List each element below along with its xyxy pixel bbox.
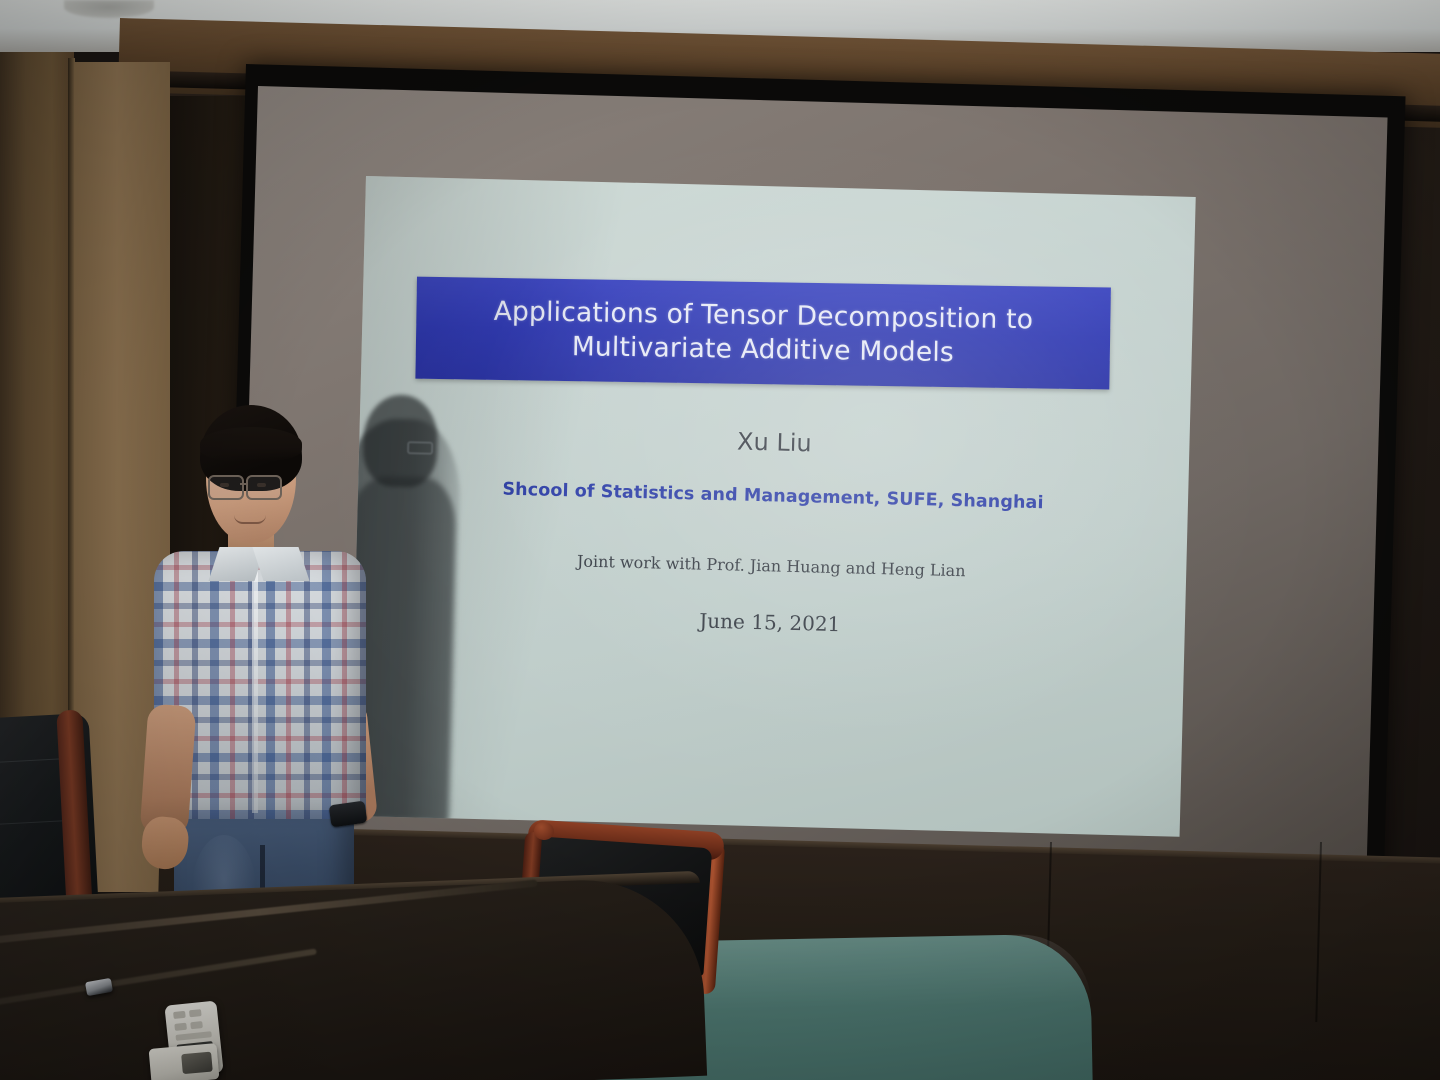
white-device-panel: [181, 1052, 213, 1075]
glasses-right-lens: [246, 475, 282, 500]
glasses-left-lens: [208, 475, 244, 500]
projected-slide: Applications of Tensor Decomposition to …: [350, 176, 1196, 837]
presenter-shadow-glasses: [407, 441, 433, 455]
slide-joint-work: Joint work with Prof. Jian Huang and Hen…: [356, 546, 1186, 586]
remote-button[interactable]: [175, 1031, 211, 1041]
remote-button[interactable]: [189, 1009, 202, 1017]
presenter-hair-fringe: [200, 427, 302, 461]
remote-button[interactable]: [174, 1023, 187, 1031]
slide-author: Xu Liu: [359, 418, 1189, 467]
glasses-bridge: [240, 483, 248, 485]
white-device[interactable]: [149, 1043, 220, 1080]
wristwatch: [329, 801, 368, 828]
remote-button[interactable]: [190, 1021, 203, 1029]
shirt-placket: [252, 561, 258, 813]
slide-date: June 15, 2021: [355, 600, 1185, 645]
presenter-mouth: [234, 515, 266, 524]
slide-title-line-2: Multivariate Additive Models: [493, 329, 1033, 371]
slide-title: Applications of Tensor Decomposition to …: [479, 295, 1047, 372]
remote-button[interactable]: [173, 1011, 186, 1019]
slide-title-band: Applications of Tensor Decomposition to …: [415, 277, 1111, 390]
presentation-photo: Applications of Tensor Decomposition to …: [0, 0, 1440, 1080]
slide-affiliation: Shcool of Statistics and Management, SUF…: [358, 476, 1188, 517]
presenter: [140, 405, 400, 965]
